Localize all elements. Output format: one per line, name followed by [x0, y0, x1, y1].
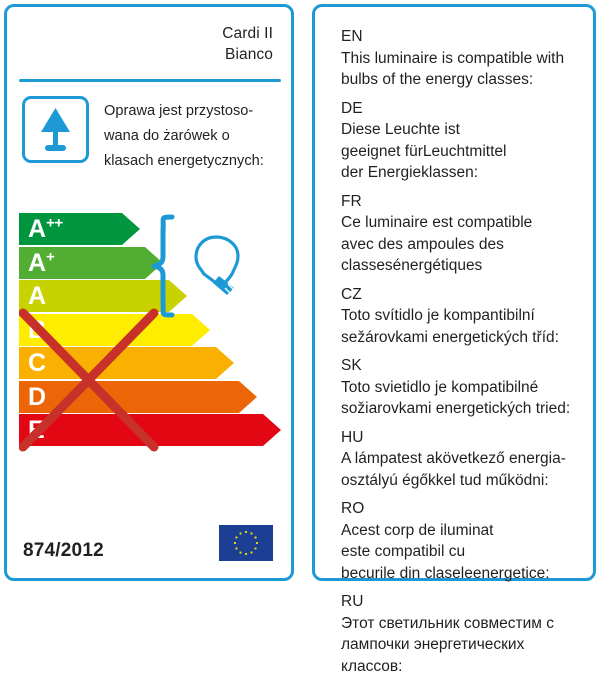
product-title-line-2: Bianco — [33, 44, 273, 65]
energy-label-panel: Cardi II Bianco Oprawa jest przystoso- w… — [4, 4, 294, 581]
eu-flag-star — [255, 537, 257, 539]
eu-flag-star — [251, 552, 253, 554]
language-block: FRCe luminaire est compatibleavec des am… — [341, 191, 585, 277]
energy-class-label: B — [28, 314, 46, 346]
energy-class-label: E — [28, 414, 45, 446]
energy-class-label: A+ — [28, 247, 54, 279]
language-text-line: This luminaire is compatible with — [341, 48, 585, 70]
language-text-line: A lámpatest akövetkező energia- — [341, 448, 585, 470]
language-text-line: classesénergétiques — [341, 255, 585, 277]
title-divider — [19, 79, 281, 82]
language-text-line: Diese Leuchte ist — [341, 119, 585, 141]
language-text-line: классов: — [341, 656, 585, 678]
eu-flag-star — [245, 531, 247, 533]
energy-class-label: A — [28, 280, 46, 312]
language-code: HU — [341, 427, 585, 449]
language-block: CZToto svítidlo je kompantibilnísežárovk… — [341, 284, 585, 349]
compatibility-line-2: wana do żarówek o — [104, 124, 292, 149]
eu-flag-star — [256, 542, 258, 544]
language-text-line: osztályú égőkkel tud működni: — [341, 470, 585, 492]
table-lamp-icon-glyph — [25, 99, 86, 160]
brace-and-bulb-glyph — [150, 213, 270, 321]
eu-flag-star — [236, 548, 238, 550]
language-text-line: der Energieklassen: — [341, 162, 585, 184]
language-code: RU — [341, 591, 585, 613]
eu-flag-star — [245, 553, 247, 555]
eu-flag-icon — [219, 525, 273, 561]
language-text-line: лампочки энергетических — [341, 634, 585, 656]
language-block-list: ENThis luminaire is compatible withbulbs… — [341, 26, 585, 679]
eu-flag-star — [240, 552, 242, 554]
energy-class-label: C — [28, 347, 46, 379]
energy-class-arrow — [19, 381, 257, 413]
language-text-line: avec des ampoules des — [341, 234, 585, 256]
language-text-line: sežárovkami energetických tříd: — [341, 327, 585, 349]
eu-flag-star — [255, 548, 257, 550]
energy-class-row: C — [19, 347, 281, 379]
multilingual-text-panel: ENThis luminaire is compatible withbulbs… — [312, 4, 596, 581]
language-text-line: Acest corp de iluminat — [341, 520, 585, 542]
language-code: EN — [341, 26, 585, 48]
language-text-line: geeignet fürLeuchtmittel — [341, 141, 585, 163]
language-text-line: este compatibil cu — [341, 541, 585, 563]
brace-and-bulb-group — [150, 213, 270, 321]
table-lamp-icon — [22, 96, 89, 163]
language-text-line: Toto svítidlo je kompantibilní — [341, 305, 585, 327]
language-text-line: Ce luminaire est compatible — [341, 212, 585, 234]
energy-class-label: D — [28, 381, 46, 413]
language-code: FR — [341, 191, 585, 213]
language-block: ENThis luminaire is compatible withbulbs… — [341, 26, 585, 91]
language-text-line: Этот светильник совместим с — [341, 613, 585, 635]
language-text-line: becurile din claseleenergetice: — [341, 563, 585, 585]
eu-flag-star — [251, 533, 253, 535]
compatibility-text: Oprawa jest przystoso- wana do żarówek o… — [104, 99, 292, 174]
language-text-line: Toto svietidlo je kompatibilné — [341, 377, 585, 399]
eu-flag-star — [234, 542, 236, 544]
energy-class-label: A++ — [28, 213, 63, 245]
eu-flag-star — [240, 533, 242, 535]
language-code: SK — [341, 355, 585, 377]
language-code: DE — [341, 98, 585, 120]
energy-class-arrow — [19, 347, 234, 379]
compatibility-line-1: Oprawa jest przystoso- — [104, 99, 292, 124]
product-title: Cardi II Bianco — [33, 23, 273, 65]
language-code: RO — [341, 498, 585, 520]
language-block: HUA lámpatest akövetkező energia-osztály… — [341, 427, 585, 492]
light-bulb-icon — [196, 237, 238, 295]
language-block: RUЭтот светильник совместим слампочки эн… — [341, 591, 585, 677]
energy-class-label-superscript: ++ — [46, 215, 63, 232]
language-block: DEDiese Leuchte istgeeignet fürLeuchtmit… — [341, 98, 585, 184]
energy-class-arrow — [19, 414, 281, 446]
eu-flag-star — [236, 537, 238, 539]
language-block: ROAcest corp de iluminateste compatibil … — [341, 498, 585, 584]
product-title-line-1: Cardi II — [33, 23, 273, 44]
energy-class-row: E — [19, 414, 281, 446]
language-text-line: sožiarovkami energetických tried: — [341, 398, 585, 420]
language-text-line: bulbs of the energy classes: — [341, 69, 585, 91]
language-code: CZ — [341, 284, 585, 306]
energy-class-row: D — [19, 381, 281, 413]
language-block: SKToto svietidlo je kompatibilnésožiarov… — [341, 355, 585, 420]
energy-class-label-superscript: + — [46, 248, 54, 265]
regulation-number: 874/2012 — [23, 540, 104, 562]
compatibility-line-3: klasach energetycznych: — [104, 149, 292, 174]
